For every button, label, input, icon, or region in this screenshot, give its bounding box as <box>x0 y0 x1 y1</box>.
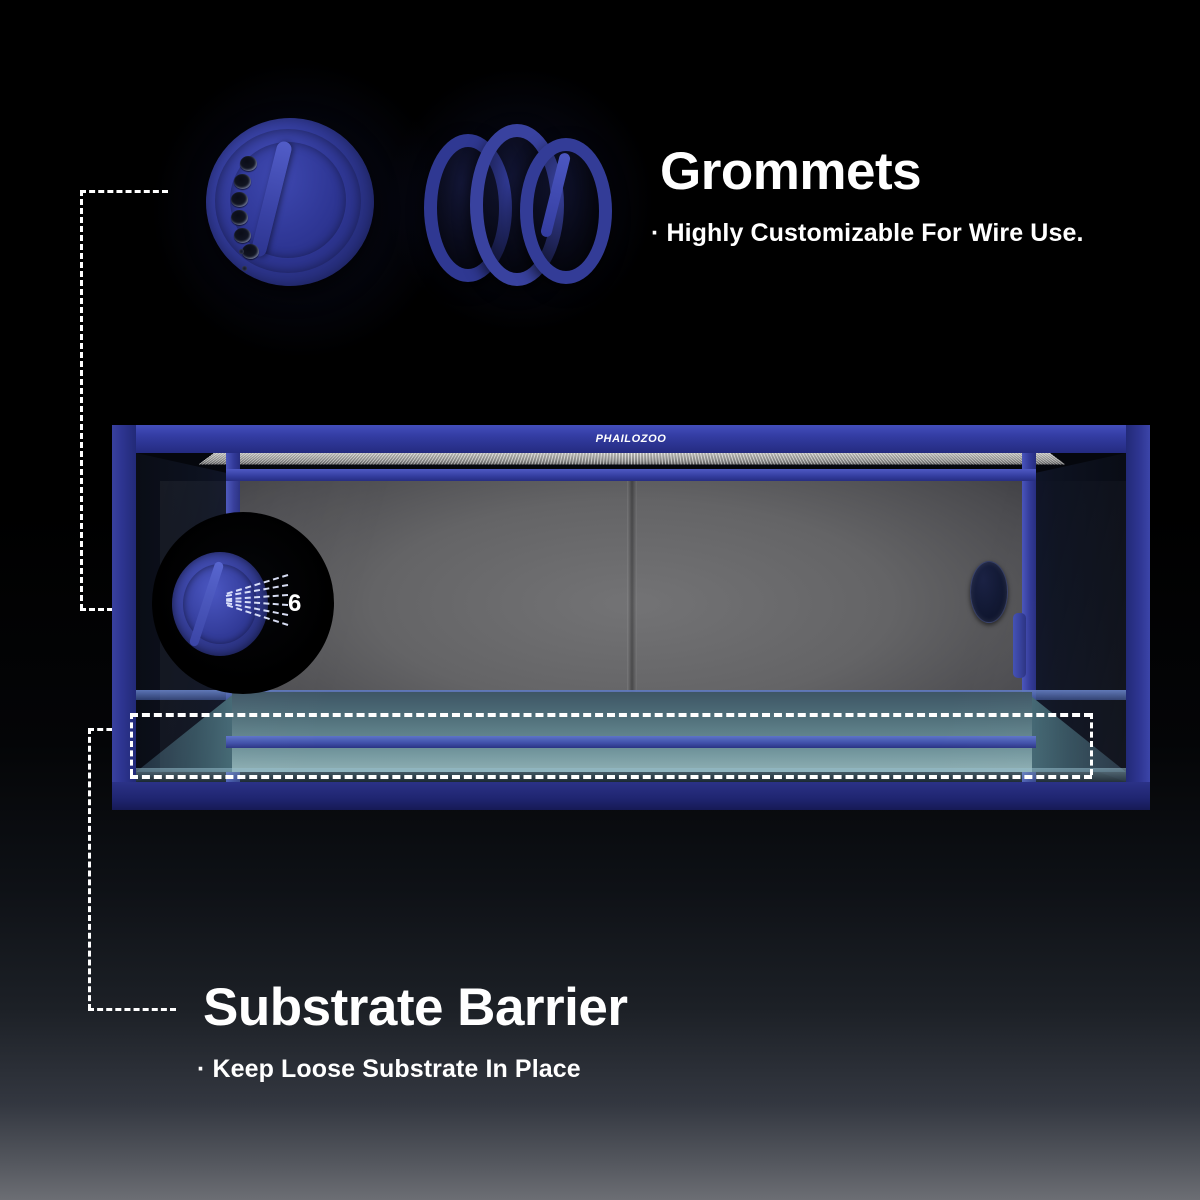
grommets-title: Grommets <box>660 141 921 202</box>
substrate-barrier-edge-left <box>130 713 133 775</box>
interior-frame-rail-top <box>226 469 1036 481</box>
substrate-barrier-edge-right <box>1090 713 1093 775</box>
disc-slot <box>231 192 248 207</box>
disc-slot <box>242 244 259 259</box>
disc-slot <box>234 228 251 243</box>
substrate-floor <box>232 692 1032 772</box>
disc-pin <box>239 249 244 254</box>
callout-grommet-graphic <box>172 552 268 656</box>
substrate-barrier-line-top <box>130 713 1092 717</box>
grommet-ring-stack-image <box>424 120 604 280</box>
grommet-cap-disc-image <box>206 118 374 286</box>
interior-frame-rail-bottom <box>226 736 1036 748</box>
frame-rail-bottom <box>112 782 1150 810</box>
substrate-barrier-subtitle: · Keep Loose Substrate In Place <box>197 1055 581 1084</box>
right-wall-grommet-port <box>970 561 1008 623</box>
leader-segment-h <box>88 1008 176 1011</box>
disc-slot <box>234 174 251 189</box>
leader-segment-v <box>80 190 83 610</box>
mesh-screen-top <box>198 453 1065 465</box>
substrate-barrier-line-bottom <box>130 775 1092 779</box>
grommet-count-label: 6 <box>288 590 301 618</box>
right-wall-vent-strip <box>1013 613 1026 678</box>
disc-pin <box>242 266 247 271</box>
leader-segment-h <box>80 190 168 193</box>
grommets-subtitle: · Highly Customizable For Wire Use. <box>651 219 1084 248</box>
product-feature-graphic: Grommets · Highly Customizable For Wire … <box>0 0 1200 1200</box>
disc-slot <box>240 156 257 171</box>
leader-segment-v <box>88 728 91 1010</box>
frame-post-right <box>1126 425 1150 810</box>
substrate-barrier-title: Substrate Barrier <box>203 977 628 1038</box>
disc-slot <box>231 210 248 225</box>
grommet-magnifier-callout: 6 <box>152 512 334 694</box>
frame-rail-top <box>112 425 1150 453</box>
